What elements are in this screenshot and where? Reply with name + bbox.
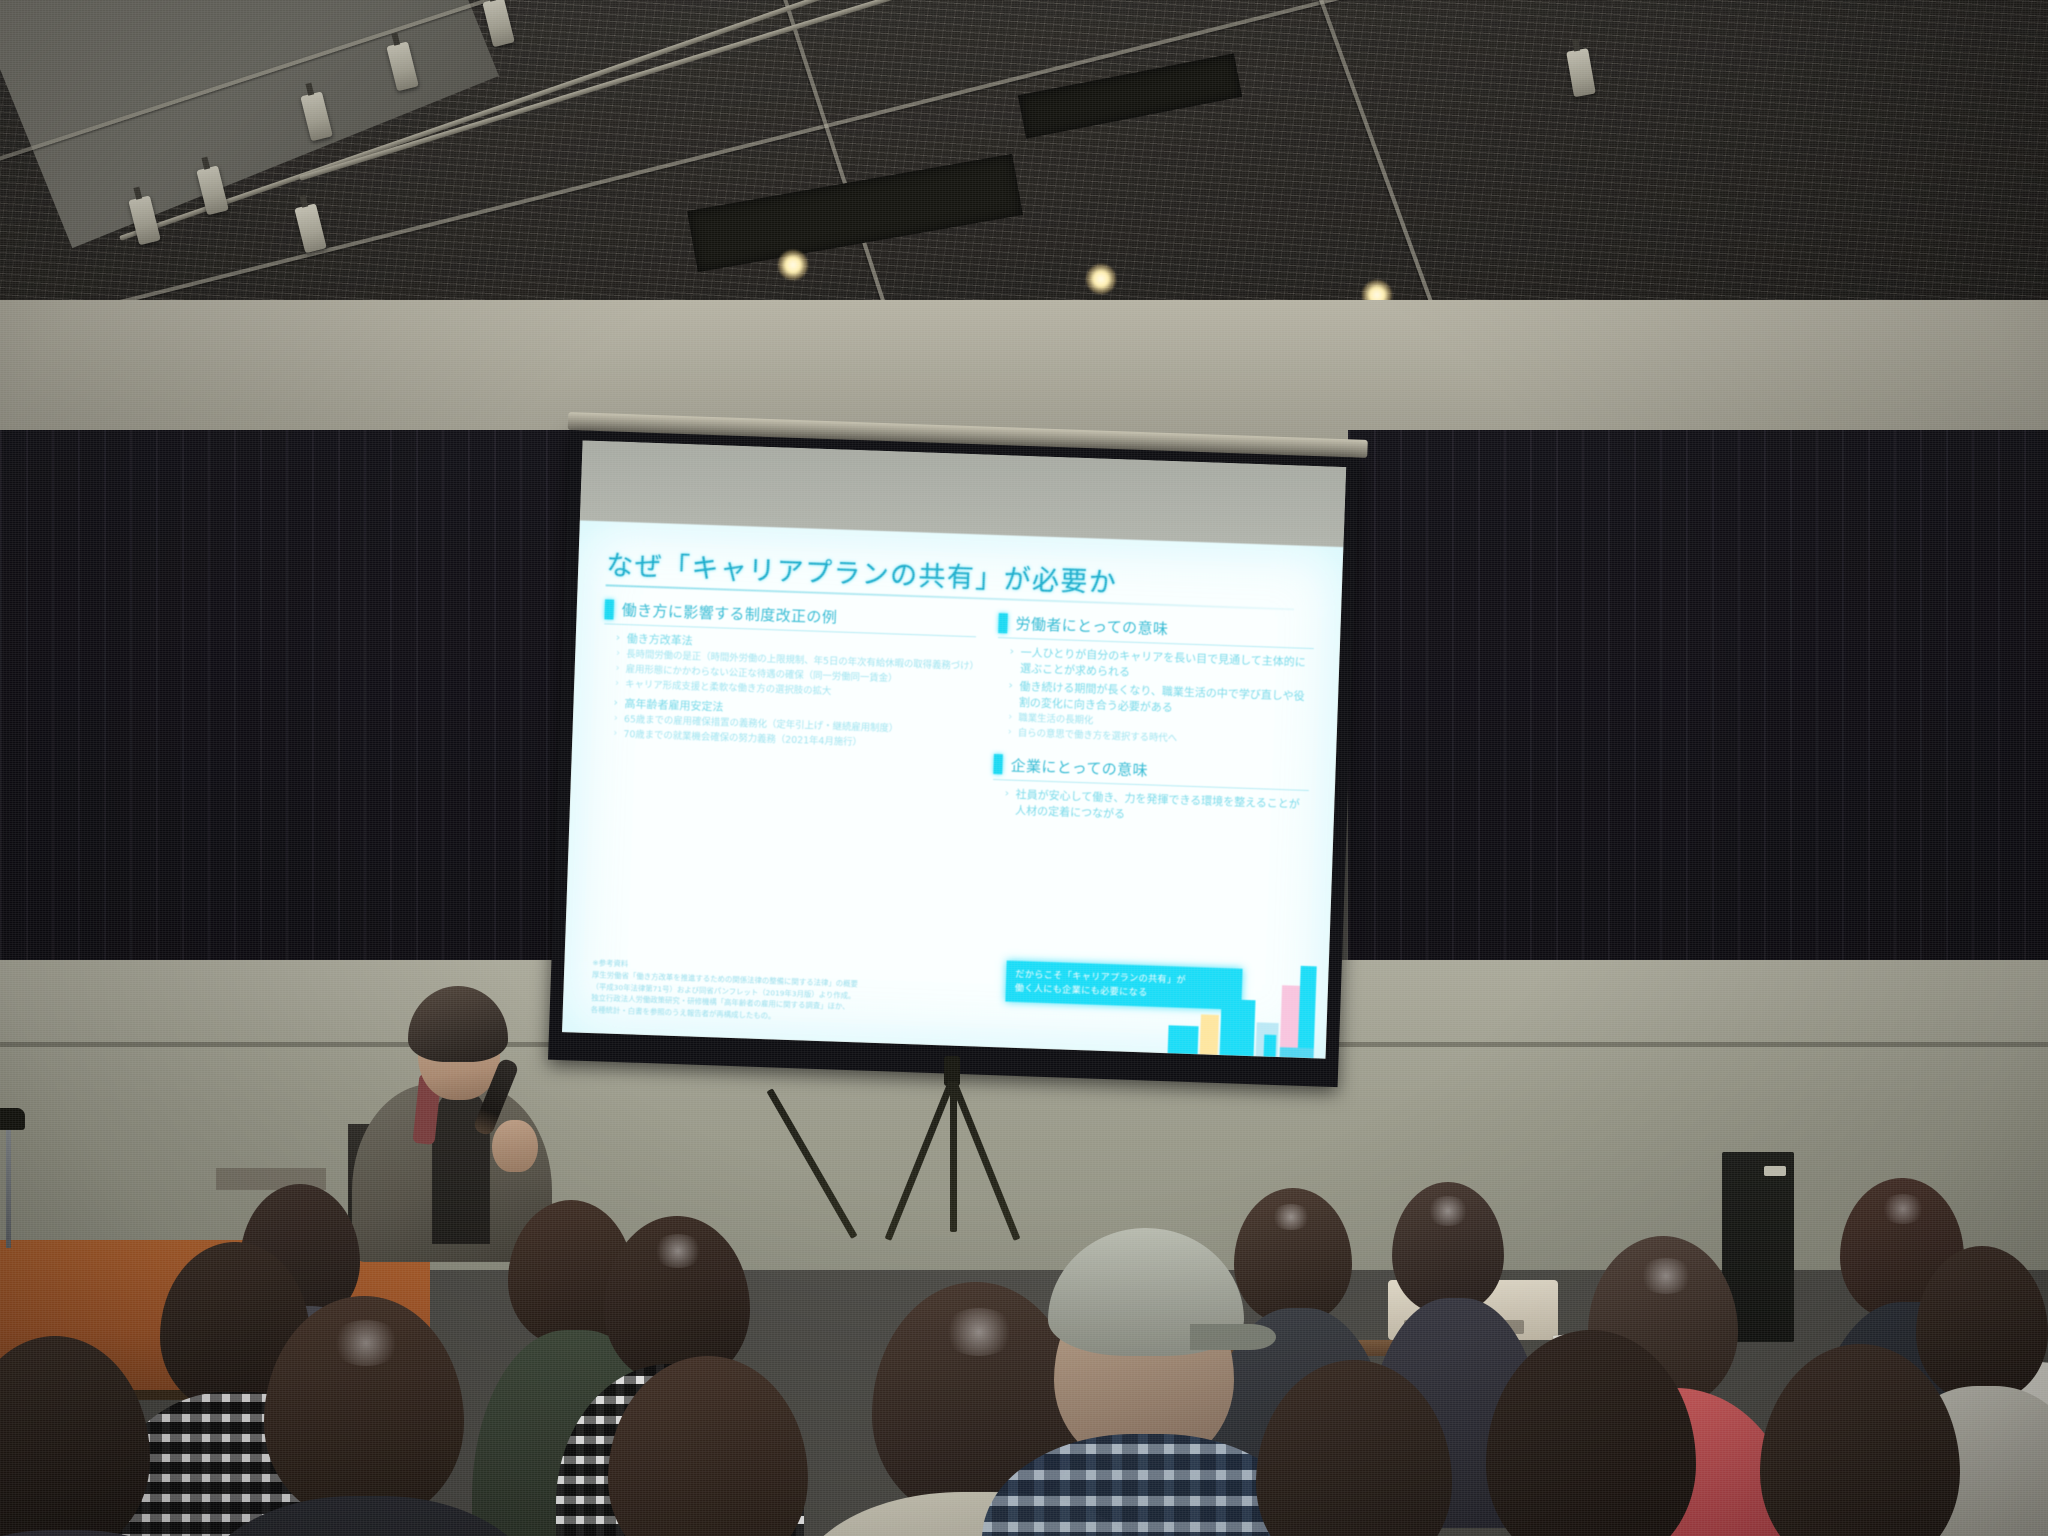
section-marker-icon: [993, 754, 1003, 774]
cap-brim: [1190, 1324, 1276, 1350]
hair-highlight: [1880, 1194, 1926, 1224]
ceiling-lamp-glow: [1086, 264, 1116, 294]
hair-highlight: [1426, 1196, 1470, 1226]
stage-curtain-left: [0, 430, 600, 970]
slide-footnote: ※参考資料 厚生労働省「働き方改革を推進するための関係法律の整備に関する法律」の…: [591, 957, 944, 1028]
skyline-bar: [1220, 999, 1256, 1056]
slide-right-column: 労働者にとっての意味 一人ひとりが自分のキャリアを長い目で見通して主体的に選ぶこ…: [992, 612, 1315, 830]
projection-screen-surface: なぜ「キャリアプランの共有」が必要か 働き方に影響する制度改正の例 働き方改革法: [562, 440, 1346, 1058]
section-marker-icon: [998, 613, 1008, 633]
ceiling-lamp-glow: [778, 250, 808, 280]
right-heading-2-text: 企業にとっての意味: [1010, 754, 1148, 780]
skyline-bar: [1200, 1014, 1219, 1055]
slide-left-column: 働き方に影響する制度改正の例 働き方改革法 長時間労働の是正（時間外労働の上限規…: [598, 598, 977, 818]
tripod-leg: [950, 1082, 957, 1232]
photo-scene: なぜ「キャリアプランの共有」が必要か 働き方に影響する制度改正の例 働き方改革法: [0, 0, 2048, 1536]
skyline-bar: [1168, 1025, 1199, 1054]
section-marker-icon: [604, 599, 614, 619]
skyline-bar: [1298, 966, 1317, 1059]
hair-highlight: [330, 1320, 402, 1366]
right-section-2-items: 社員が安心して働き、力を発揮できる環境を整えることが人材の定着につながる: [992, 786, 1309, 829]
hair-highlight: [1270, 1204, 1312, 1230]
left-section-heading: 働き方に影響する制度改正の例: [604, 598, 977, 632]
stage-curtain-right: [1348, 430, 2048, 970]
projected-slide: なぜ「キャリアプランの共有」が必要か 働き方に影響する制度改正の例 働き方改革法: [562, 520, 1343, 1058]
projection-screen-frame[interactable]: なぜ「キャリアプランの共有」が必要か 働き方に影響する制度改正の例 働き方改革法: [548, 430, 1360, 1087]
microphone-stand: [6, 1128, 11, 1248]
slide-columns: 働き方に影響する制度改正の例 働き方改革法 長時間労働の是正（時間外労働の上限規…: [598, 598, 1315, 830]
list-item: 社員が安心して働き、力を発揮できる環境を整えることが人材の定着につながる: [1004, 786, 1309, 828]
skyline-bar: [1264, 1035, 1277, 1057]
skyline-decoration: [1166, 957, 1319, 1058]
presenter-hand: [492, 1120, 538, 1172]
hair-highlight: [942, 1308, 1016, 1356]
right-heading-1-text: 労働者にとっての意味: [1015, 613, 1168, 639]
hair-highlight: [652, 1234, 704, 1268]
hair-highlight: [1638, 1258, 1694, 1294]
left-heading-text: 働き方に影響する制度改正の例: [621, 599, 837, 628]
skyline-bar: [1280, 1047, 1314, 1058]
upper-wall: [0, 300, 2048, 440]
right-section-1-items: 一人ひとりが自分のキャリアを長い目で見通して主体的に選ぶことが求められる 働き続…: [996, 644, 1314, 721]
